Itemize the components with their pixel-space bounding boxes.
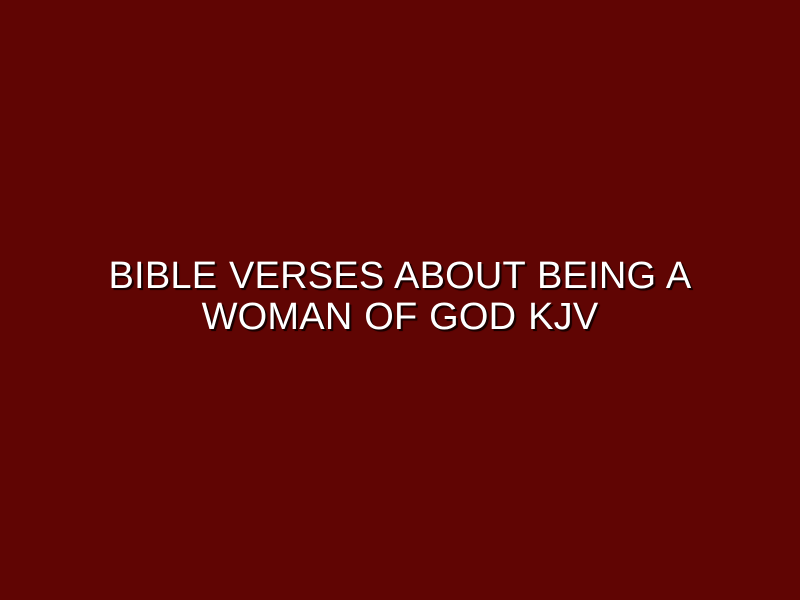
title-card: Bible Verses About Being a Woman of God …: [0, 0, 800, 600]
page-title: Bible Verses About Being a Woman of God …: [50, 256, 750, 338]
headline-block: Bible Verses About Being a Woman of God …: [50, 256, 750, 338]
